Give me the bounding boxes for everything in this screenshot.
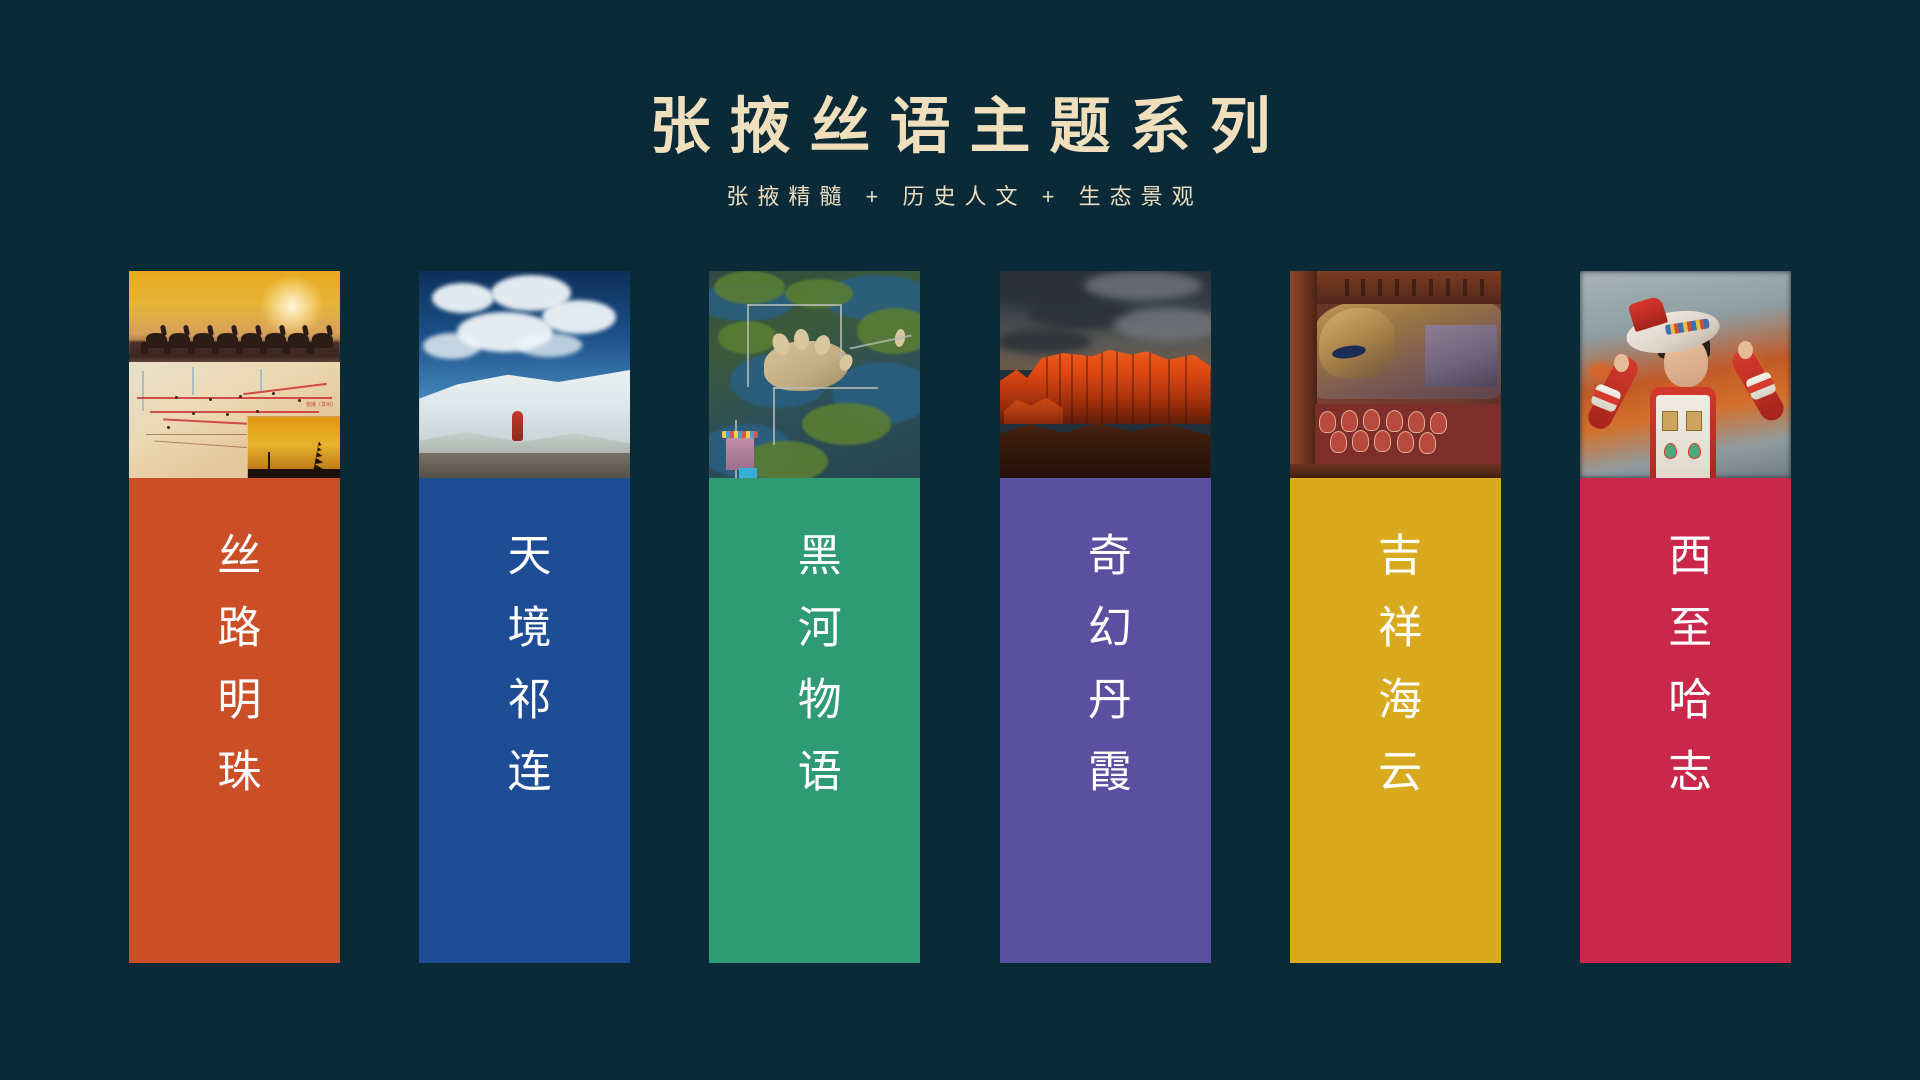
theme-card-list: 张掖〔甘州〕 丝路明珠 xyxy=(129,271,1791,963)
theme-card-danxia[interactable]: 奇幻丹霞 xyxy=(1000,271,1211,963)
theme-card-qilian[interactable]: 天境祁连 xyxy=(419,271,630,963)
card-label: 黑河物语 xyxy=(779,532,851,952)
danxia-red-rock-landform-photo xyxy=(1000,271,1211,478)
card-body: 吉祥海云 xyxy=(1290,478,1501,963)
card-label: 天境祁连 xyxy=(489,532,561,952)
card-body: 天境祁连 xyxy=(419,478,630,963)
card-label: 丝路明珠 xyxy=(199,532,271,952)
silk-road-map-camel-caravan-photo: 张掖〔甘州〕 xyxy=(129,271,340,478)
card-body: 丝路明珠 xyxy=(129,478,340,963)
theme-card-yugur[interactable]: 西至哈志 xyxy=(1580,271,1791,963)
card-label: 奇幻丹霞 xyxy=(1069,532,1141,952)
card-body: 奇幻丹霞 xyxy=(1000,478,1211,963)
theme-card-heihe[interactable]: 黑河物语 xyxy=(709,271,920,963)
page-title: 张掖丝语主题系列 xyxy=(0,96,1920,157)
yugur-ethnic-costume-dancer-photo xyxy=(1580,271,1791,478)
map-city-label: 张掖〔甘州〕 xyxy=(306,401,336,408)
card-body: 西至哈志 xyxy=(1580,478,1791,963)
qilian-glacier-snow-peak-photo xyxy=(419,271,630,478)
theme-card-silk-road[interactable]: 张掖〔甘州〕 丝路明珠 xyxy=(129,271,340,963)
theme-card-buddha[interactable]: 吉祥海云 xyxy=(1290,271,1501,963)
giant-reclining-buddha-temple-photo xyxy=(1290,271,1501,478)
card-label: 吉祥海云 xyxy=(1359,532,1431,952)
page-subtitle: 张掖精髓 + 历史人文 + 生态景观 xyxy=(0,179,1920,211)
heihe-wetland-aerial-view-photo xyxy=(709,271,920,478)
page-header: 张掖丝语主题系列 张掖精髓 + 历史人文 + 生态景观 xyxy=(0,0,1920,211)
card-body: 黑河物语 xyxy=(709,478,920,963)
card-label: 西至哈志 xyxy=(1650,532,1722,952)
